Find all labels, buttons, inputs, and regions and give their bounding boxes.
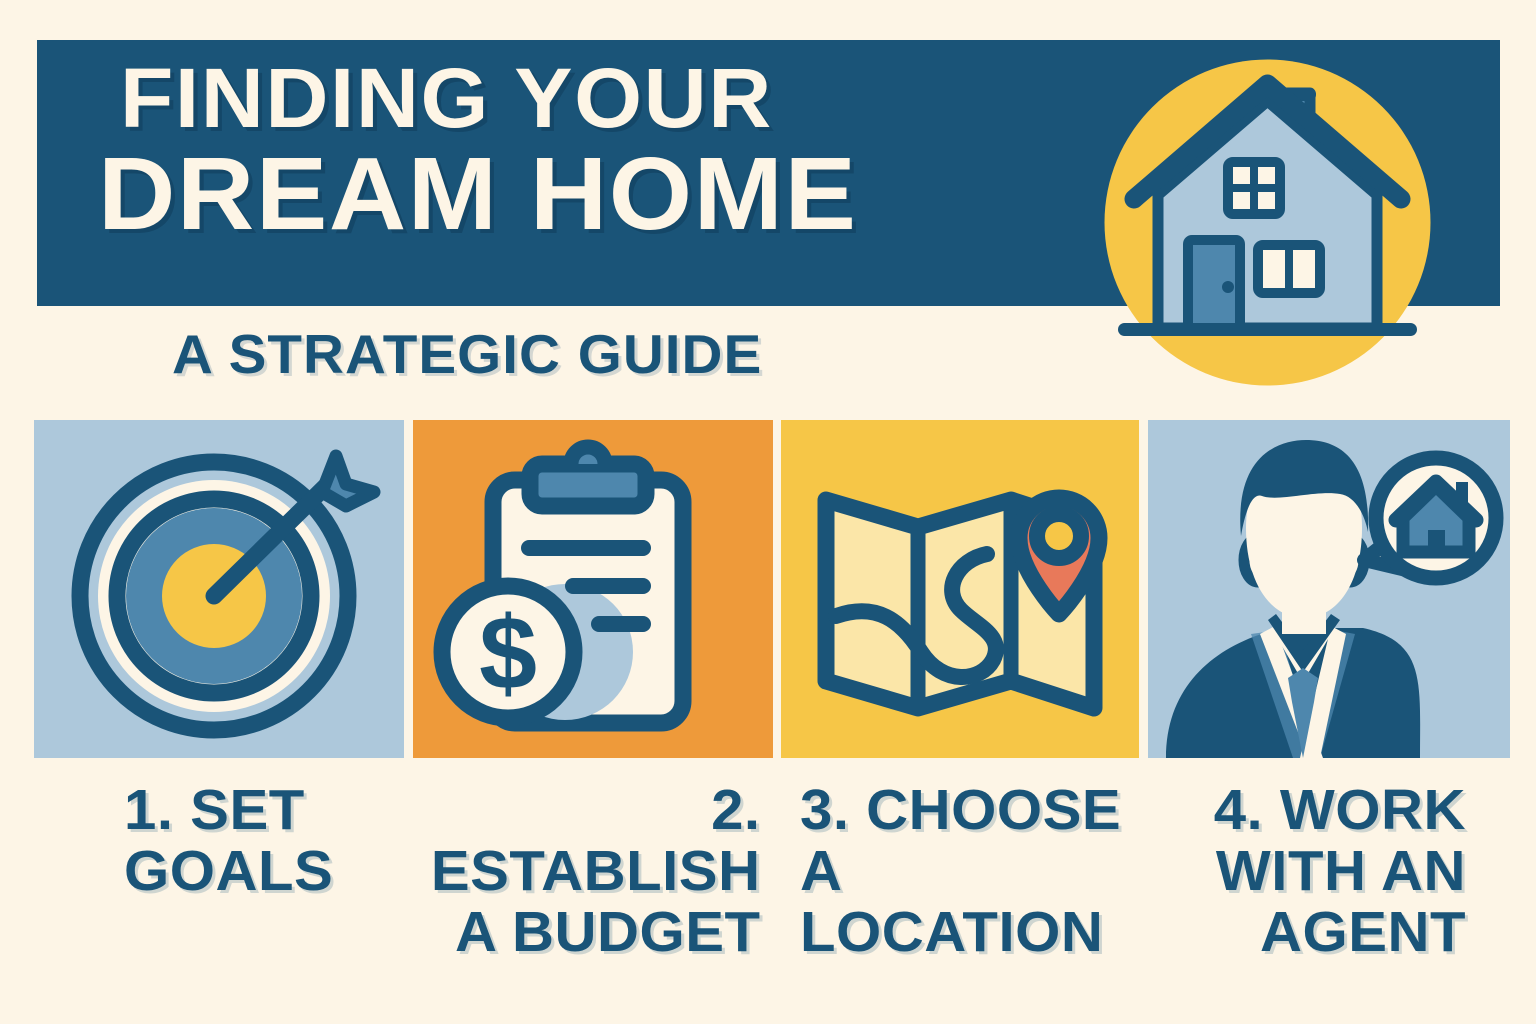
target-arrow-icon [34, 420, 404, 758]
step-caption-4-line-1: 4. WORK [1160, 780, 1466, 841]
subtitle: A STRATEGIC GUIDE [172, 322, 762, 386]
step-captions-row: 1. SET GOALS 2. ESTABLISH A BUDGET 3. CH… [0, 780, 1536, 1024]
svg-text:$: $ [479, 596, 537, 712]
agent-speech-house-icon [1148, 420, 1510, 758]
step-caption-1-line-2: GOALS [124, 841, 410, 902]
step-caption-3: 3. CHOOSE A LOCATION [800, 780, 1137, 963]
title-block: FINDING YOUR DREAM HOME [120, 58, 1080, 244]
step-caption-2: 2. ESTABLISH A BUDGET [424, 780, 761, 963]
step-tile-4[interactable] [1148, 420, 1510, 758]
step-tile-1[interactable] [34, 420, 404, 758]
house-icon [1100, 55, 1435, 390]
infographic-poster: FINDING YOUR DREAM HOME A STRATEGIC GUID… [0, 0, 1536, 1024]
house-badge [1100, 55, 1435, 390]
step-caption-3-line-1: 3. CHOOSE [800, 780, 1137, 841]
title-line-1: FINDING YOUR [120, 58, 1118, 139]
step-caption-4-line-3: AGENT [1160, 902, 1466, 963]
title-line-2: DREAM HOME [98, 145, 1119, 244]
clipboard-dollar-coin-icon: $ [413, 420, 773, 758]
step-caption-3-line-2: A LOCATION [800, 841, 1137, 963]
step-caption-1: 1. SET GOALS [124, 780, 410, 902]
step-caption-4: 4. WORK WITH AN AGENT [1160, 780, 1466, 963]
step-tile-3[interactable] [781, 420, 1139, 758]
step-caption-1-line-1: 1. SET [124, 780, 410, 841]
step-tile-2[interactable]: $ [413, 420, 773, 758]
step-tiles-row: $ [0, 420, 1536, 758]
step-caption-2-line-2: A BUDGET [424, 902, 761, 963]
step-caption-4-line-2: WITH AN [1160, 841, 1466, 902]
step-caption-2-line-1: 2. ESTABLISH [424, 780, 761, 902]
folded-map-pin-icon [781, 420, 1139, 758]
